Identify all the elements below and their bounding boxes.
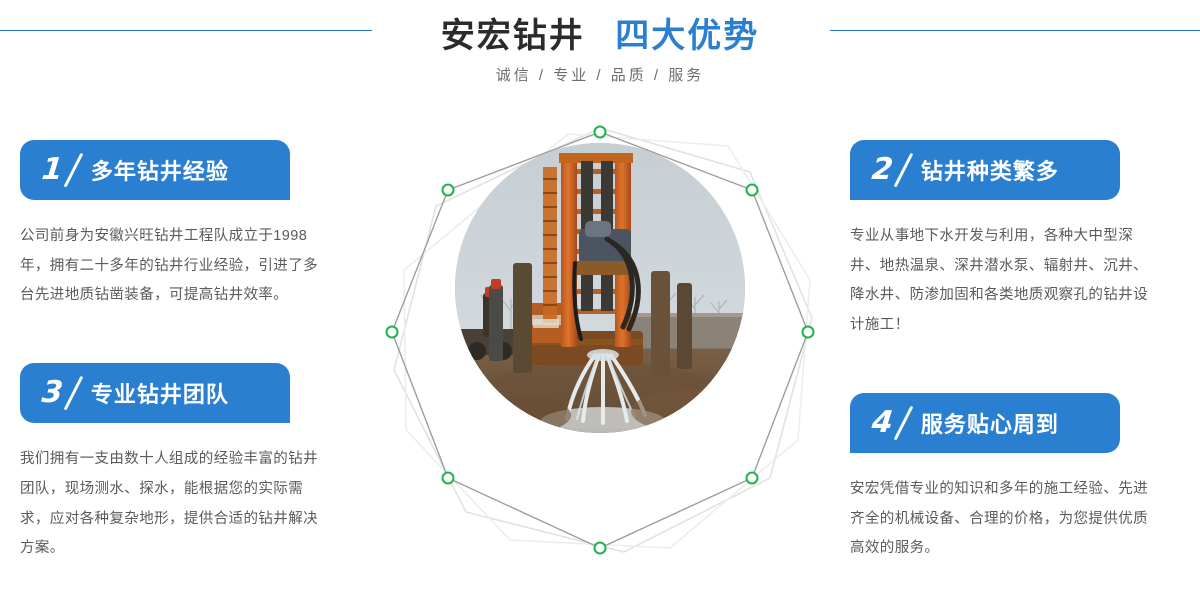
feature-number-4: 4 bbox=[870, 408, 910, 438]
page-title: 安宏钻井 四大优势 bbox=[0, 8, 1200, 57]
feature-body-2: 专业从事地下水开发与利用，各种大中型深井、地热温泉、深井潜水泵、辐射井、沉井、降… bbox=[850, 222, 1160, 341]
feature-number-1: 1 bbox=[40, 155, 80, 185]
vertex-marker-top-right bbox=[747, 185, 758, 196]
page-header: 安宏钻井 四大优势 诚信 / 专业 / 品质 / 服务 bbox=[0, 0, 1200, 110]
title-company: 安宏钻井 bbox=[441, 17, 585, 55]
feature-number-2: 2 bbox=[870, 155, 910, 185]
feature-badge-4[interactable]: 4 服务贴心周到 bbox=[850, 393, 1120, 453]
vertex-marker-left bbox=[387, 327, 398, 338]
feature-title-1: 多年钻井经验 bbox=[91, 154, 229, 186]
feature-badge-1[interactable]: 1 多年钻井经验 bbox=[20, 140, 290, 200]
feature-title-3: 专业钻井团队 bbox=[91, 377, 229, 409]
vertex-marker-top bbox=[595, 127, 606, 138]
title-accent: 四大优势 bbox=[615, 17, 759, 55]
feature-card-4: 4 服务贴心周到 安宏凭借专业的知识和多年的施工经验、先进齐全的机械设备、合理的… bbox=[850, 393, 1180, 564]
feature-card-3: 3 专业钻井团队 我们拥有一支由数十人组成的经验丰富的钻井团队，现场测水、探水，… bbox=[20, 363, 350, 564]
drilling-rig-photo bbox=[455, 143, 745, 433]
feature-column-left: 1 多年钻井经验 公司前身为安徽兴旺钻井工程队成立于1998年，拥有二十多年的钻… bbox=[20, 140, 350, 564]
feature-badge-3[interactable]: 3 专业钻井团队 bbox=[20, 363, 290, 423]
feature-number-3: 3 bbox=[40, 378, 80, 408]
vertex-marker-right bbox=[803, 327, 814, 338]
feature-title-4: 服务贴心周到 bbox=[921, 407, 1059, 439]
feature-body-4: 安宏凭借专业的知识和多年的施工经验、先进齐全的机械设备、合理的价格，为您提供优质… bbox=[850, 475, 1160, 564]
page-subtitle: 诚信 / 专业 / 品质 / 服务 bbox=[0, 64, 1200, 85]
feature-badge-2[interactable]: 2 钻井种类繁多 bbox=[850, 140, 1120, 200]
vertex-marker-bottom-left bbox=[443, 473, 454, 484]
feature-body-1: 公司前身为安徽兴旺钻井工程队成立于1998年，拥有二十多年的钻井行业经验，引进了… bbox=[20, 222, 330, 311]
center-graphic bbox=[370, 110, 830, 570]
vertex-marker-bottom-right bbox=[747, 473, 758, 484]
feature-column-right: 2 钻井种类繁多 专业从事地下水开发与利用，各种大中型深井、地热温泉、深井潜水泵… bbox=[850, 140, 1180, 564]
feature-card-2: 2 钻井种类繁多 专业从事地下水开发与利用，各种大中型深井、地热温泉、深井潜水泵… bbox=[850, 140, 1180, 341]
vertex-marker-top-left bbox=[443, 185, 454, 196]
feature-body-3: 我们拥有一支由数十人组成的经验丰富的钻井团队，现场测水、探水，能根据您的实际需求… bbox=[20, 445, 330, 564]
feature-card-1: 1 多年钻井经验 公司前身为安徽兴旺钻井工程队成立于1998年，拥有二十多年的钻… bbox=[20, 140, 350, 311]
promo-page: 安宏钻井 四大优势 诚信 / 专业 / 品质 / 服务 1 多年钻井经验 公司前… bbox=[0, 0, 1200, 600]
vertex-marker-bottom bbox=[595, 543, 606, 554]
feature-title-2: 钻井种类繁多 bbox=[921, 154, 1059, 186]
